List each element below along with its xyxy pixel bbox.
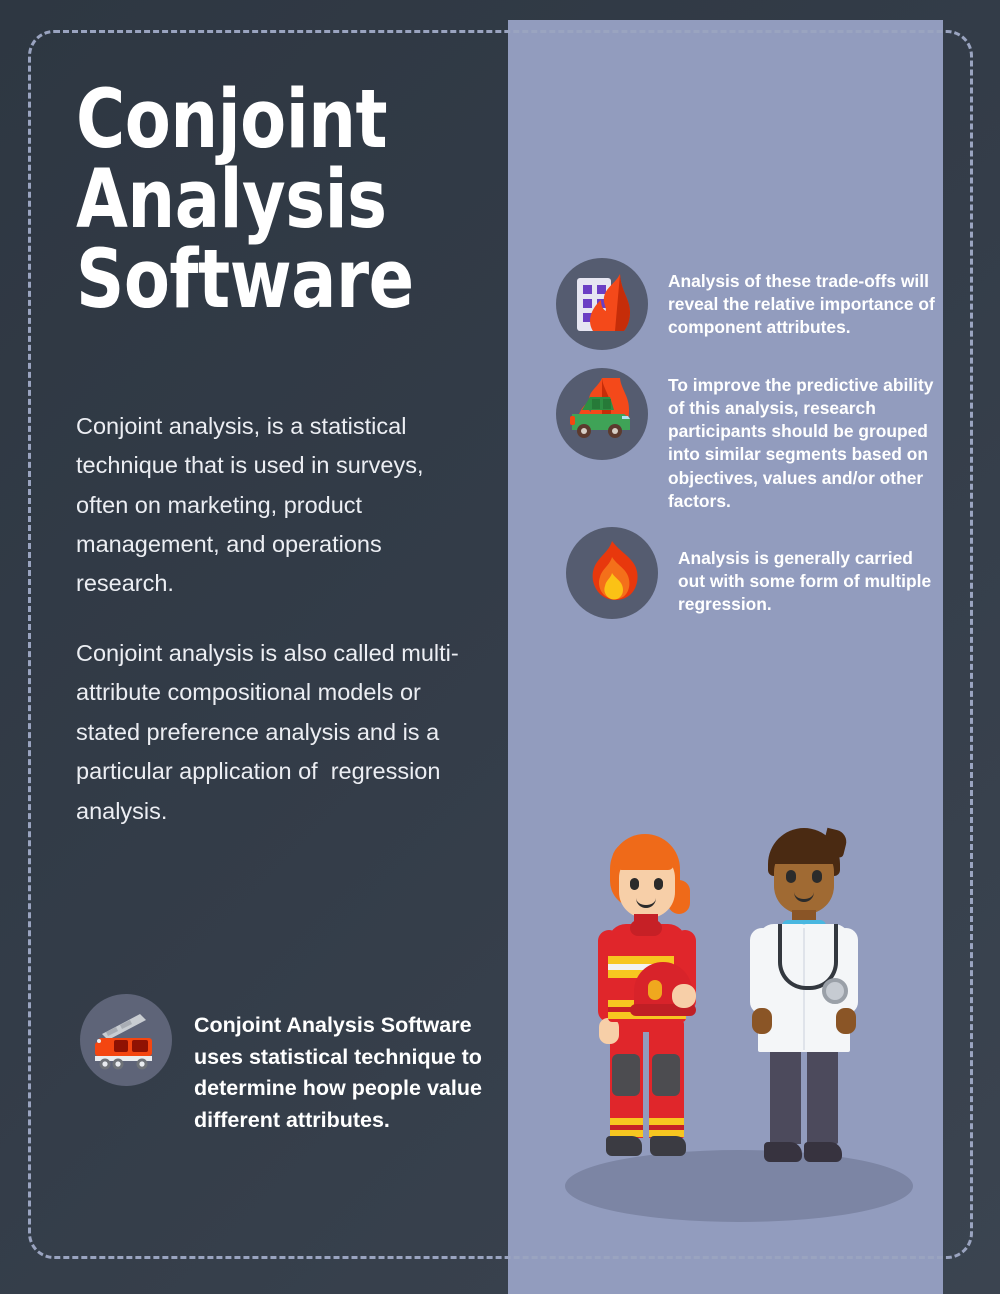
doctor-leg-gap (801, 1042, 807, 1146)
infographic-poster: Conjoint Analysis Software Conjoint anal… (0, 0, 1000, 1294)
summary-callout: Conjoint Analysis Software uses statisti… (80, 988, 500, 1136)
firefighter-eye-left (630, 878, 639, 890)
title-line-2: Analysis (76, 160, 462, 240)
burning-building-glyph (556, 258, 648, 350)
firefighter-boot-left (606, 1136, 642, 1156)
bullet-item: To improve the predictive ability of thi… (556, 368, 936, 513)
title-line-3: Software (76, 240, 462, 320)
fire-truck-icon (80, 994, 172, 1086)
firefighter-fringe (612, 842, 674, 870)
bullet-list: Analysis of these trade-offs will reveal… (556, 258, 936, 637)
burning-building-icon (556, 258, 648, 350)
bullet-text: Analysis is generally carried out with s… (678, 527, 936, 616)
callout-text: Conjoint Analysis Software uses statisti… (194, 988, 500, 1136)
intro-paragraph-1: Conjoint analysis, is a statistical tech… (76, 407, 478, 604)
firefighter-knee-pad-right (652, 1054, 680, 1096)
doctor-character (742, 828, 866, 1168)
firefighter-knee-pad-left (612, 1054, 640, 1096)
bullet-text: Analysis of these trade-offs will reveal… (668, 258, 936, 339)
doctor-shoe-right (804, 1142, 842, 1162)
firefighter-boot-right (650, 1136, 686, 1156)
doctor-hand-left (752, 1008, 772, 1034)
firefighter-eye-right (654, 878, 663, 890)
burning-truck-icon (556, 368, 648, 460)
bullet-text: To improve the predictive ability of thi… (668, 368, 936, 513)
firefighter-helmet-badge (648, 980, 662, 1000)
page-title: Conjoint Analysis Software (76, 80, 462, 321)
firefighter-collar (630, 920, 662, 936)
doctor-fringe (770, 838, 838, 864)
bullet-item: Analysis of these trade-offs will reveal… (556, 258, 936, 350)
firefighter-hand-right (672, 984, 696, 1008)
doctor-shoe-left (764, 1142, 802, 1162)
stethoscope-bell-icon (822, 978, 848, 1004)
doctor-eye-right (812, 870, 822, 883)
illustration-scene (508, 820, 943, 1240)
left-column: Conjoint Analysis Software Conjoint anal… (76, 80, 496, 831)
bullet-item: Analysis is generally carried out with s… (556, 527, 936, 619)
fire-truck-glyph (80, 994, 172, 1086)
flame-glyph (566, 527, 658, 619)
flame-icon (566, 527, 658, 619)
intro-paragraph-2: Conjoint analysis is also called multi-a… (76, 634, 478, 831)
burning-truck-glyph (556, 368, 648, 460)
doctor-hand-right (836, 1008, 856, 1034)
firefighter-leg-gap (643, 1032, 649, 1142)
firefighter-character (586, 834, 706, 1164)
title-line-1: Conjoint (76, 80, 462, 160)
doctor-eye-left (786, 870, 796, 883)
